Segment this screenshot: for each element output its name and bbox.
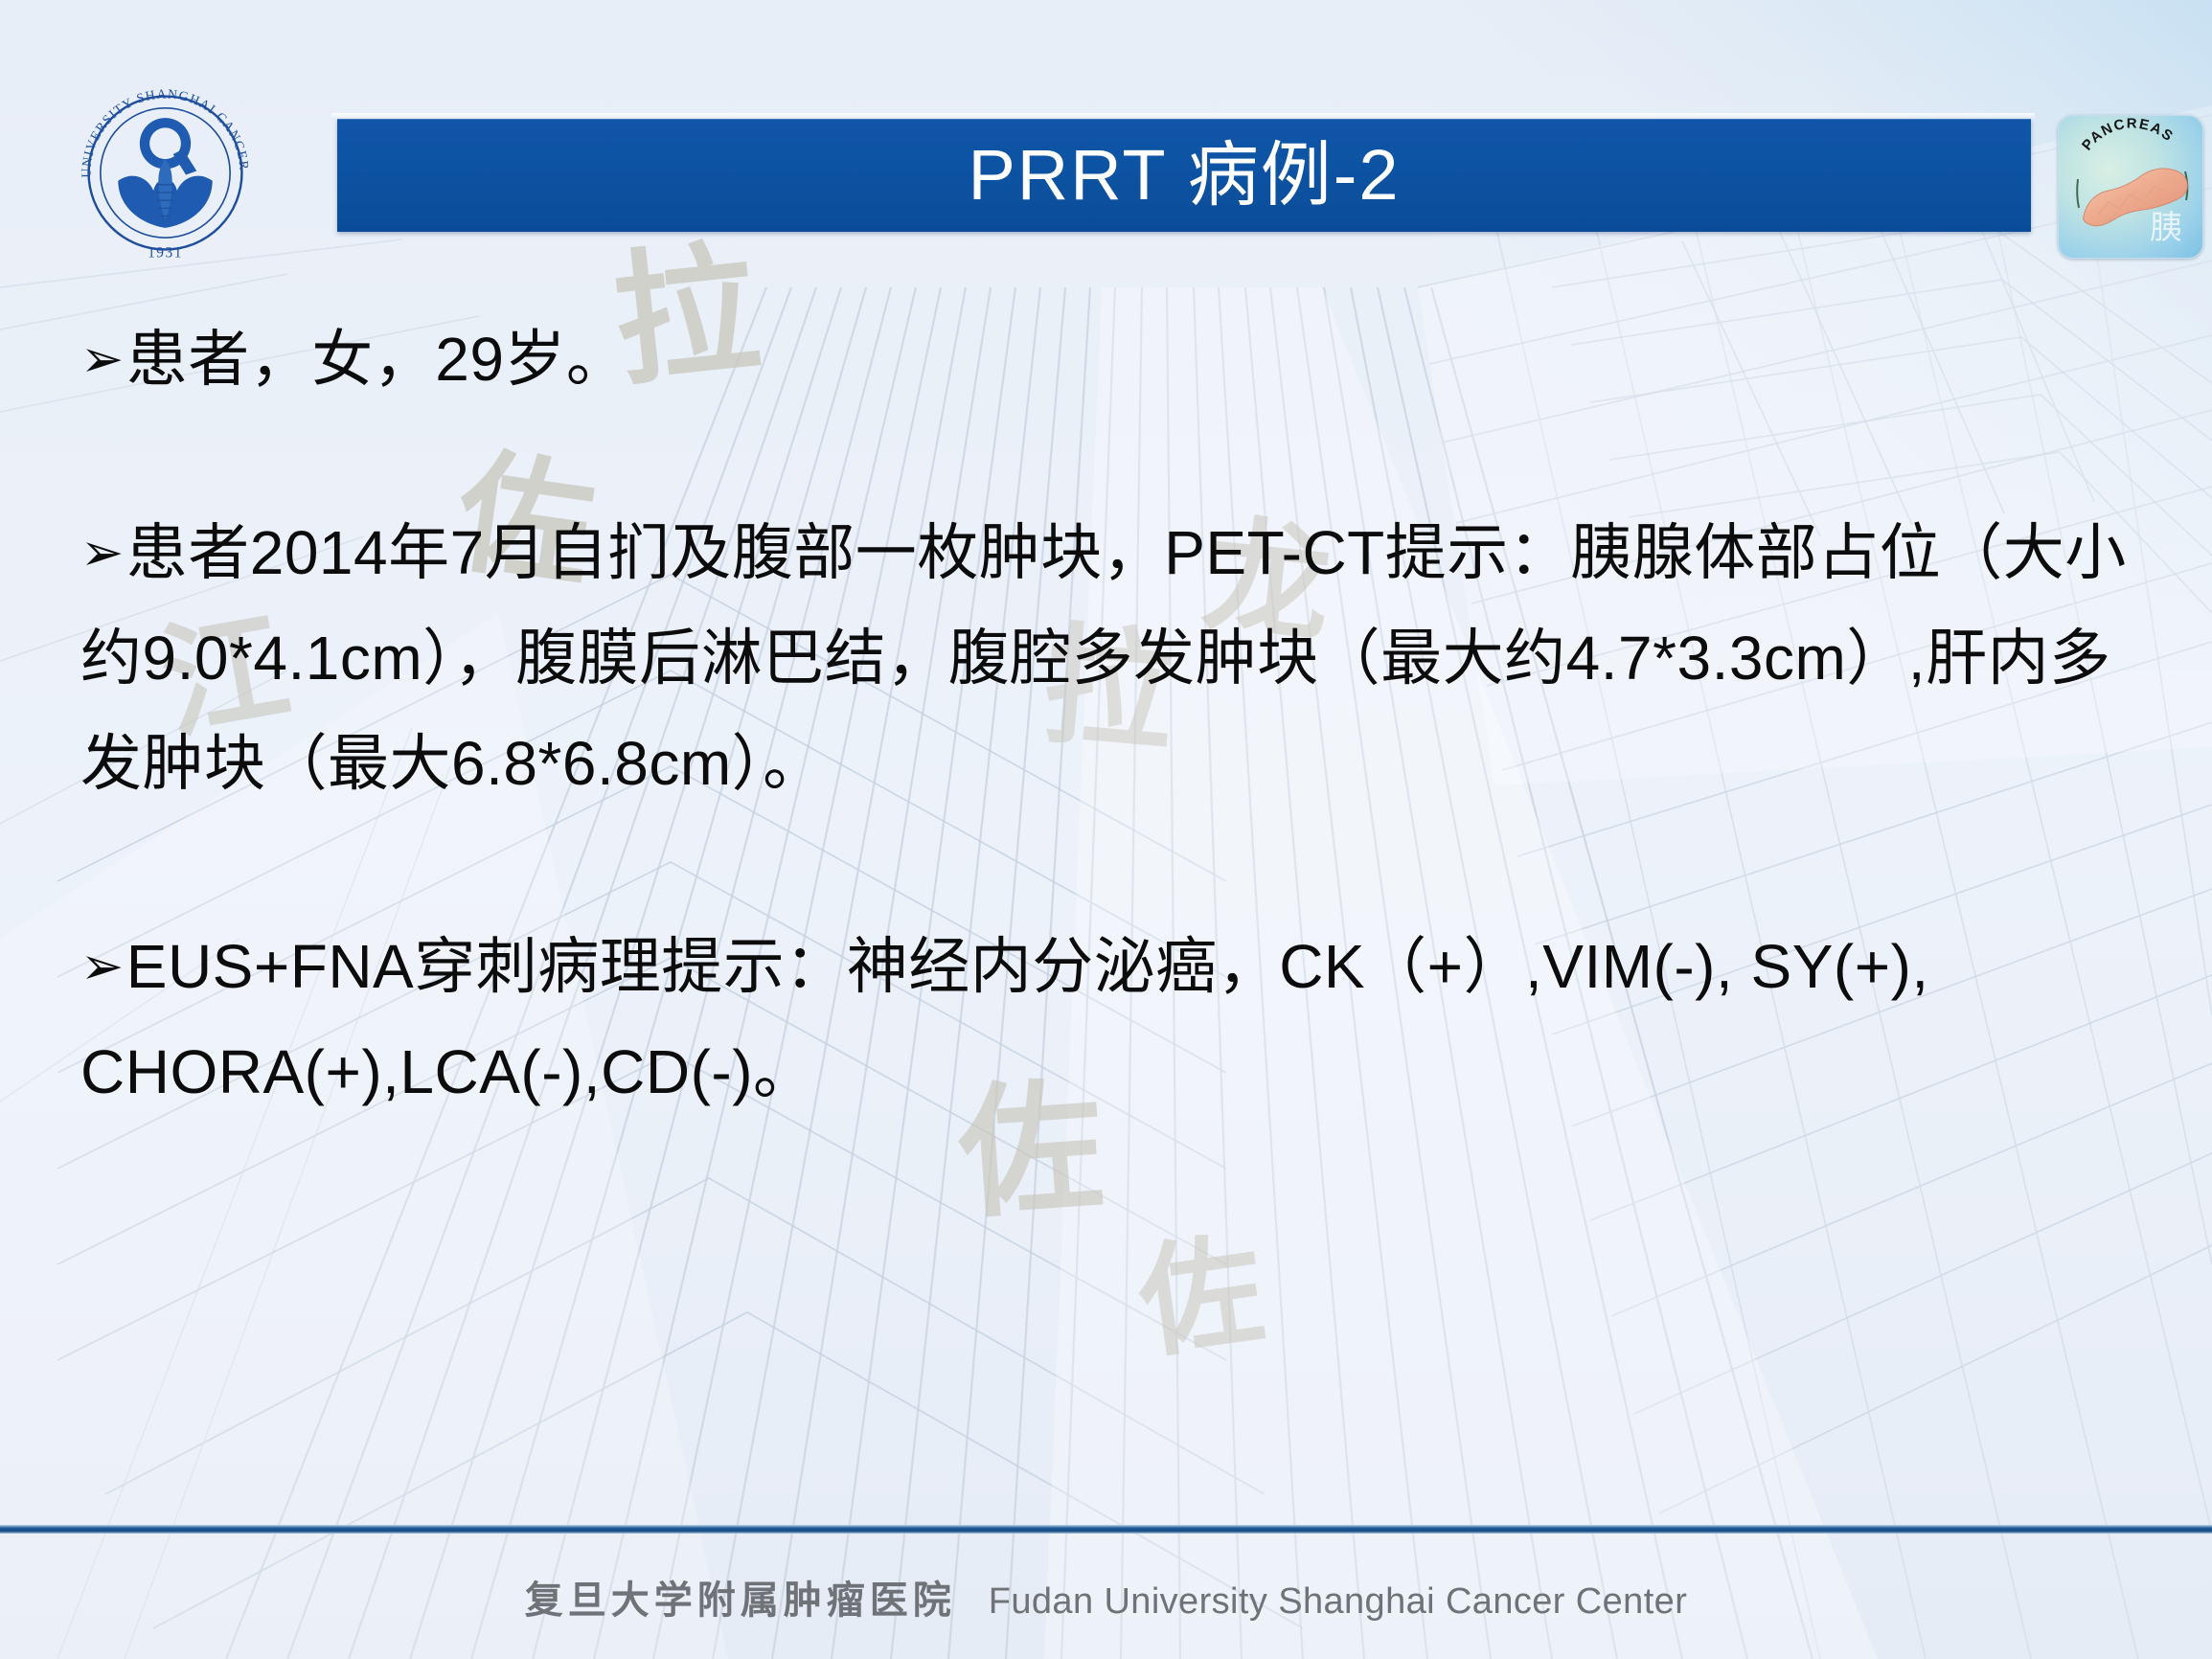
paragraph-1-line-1: ➢患者，女，29岁。 <box>80 307 2150 412</box>
paragraph-spacer-1 <box>80 412 2150 500</box>
fudan-cancer-center-logo: FUDAN UNIVERSITY SHANGHAI CANCER CENTER … <box>67 75 263 271</box>
bullet-marker-icon: ➢ <box>80 333 125 385</box>
paragraph-3-text-1: EUS+FNA穿刺病理提示：神经内分泌癌，CK（+）,VIM(-), SY(+)… <box>126 932 1929 1001</box>
footer: 复旦大学附属肿瘤医院Fudan University Shanghai Canc… <box>0 1569 2212 1625</box>
bullet-paragraph-1: ➢患者，女，29岁。 <box>80 307 2150 412</box>
paragraph-2-text-1: 患者2014年7月自扪及腹部一枚肿块，PET-CT提示：胰腺体部占位（大小 <box>126 518 2127 587</box>
footer-institution-cn: 复旦大学附属肿瘤医院 <box>525 1579 956 1622</box>
bullet-marker-icon: ➢ <box>80 527 125 579</box>
svg-text:1931: 1931 <box>148 245 183 261</box>
watermark-char-7: 佐 <box>1127 1190 1273 1382</box>
slide-title-band: PRRT 病例-2 <box>337 119 2031 232</box>
paragraph-1-text: 患者，女，29岁。 <box>126 325 628 394</box>
page-title: PRRT 病例-2 <box>337 140 2031 211</box>
bullet-paragraph-3: ➢EUS+FNA穿刺病理提示：神经内分泌癌，CK（+）,VIM(-), SY(+… <box>80 914 2150 1125</box>
bullet-paragraph-2: ➢患者2014年7月自扪及腹部一枚肿块，PET-CT提示：胰腺体部占位（大小 约… <box>80 500 2150 816</box>
svg-text:胰: 胰 <box>2150 209 2182 247</box>
svg-text:PANCREAS: PANCREAS <box>2079 116 2177 153</box>
footer-institution-en: Fudan University Shanghai Cancer Center <box>989 1581 1688 1622</box>
pancreas-badge-logo: PANCREAS 胰 <box>2058 115 2203 259</box>
paragraph-2-line-1: ➢患者2014年7月自扪及腹部一枚肿块，PET-CT提示：胰腺体部占位（大小 <box>80 500 2150 605</box>
slide-body: ➢患者，女，29岁。 ➢患者2014年7月自扪及腹部一枚肿块，PET-CT提示：… <box>80 307 2150 1125</box>
footer-divider <box>0 1525 2212 1534</box>
paragraph-2-line-3: 发肿块（最大6.8*6.8cm）。 <box>80 711 2150 816</box>
paragraph-3-line-2: CHORA(+),LCA(-),CD(-)。 <box>80 1019 2150 1125</box>
paragraph-spacer-2 <box>80 816 2150 914</box>
slide-canvas: 拉 佐 江 龙 佐 拉 佐 FUDAN UNIVERSITY SHANGHAI … <box>0 0 2212 1659</box>
bullet-marker-icon: ➢ <box>80 941 125 992</box>
paragraph-2-line-2: 约9.0*4.1cm），腹膜后淋巴结，腹腔多发肿块（最大约4.7*3.3cm）,… <box>80 605 2150 711</box>
paragraph-3-line-1: ➢EUS+FNA穿刺病理提示：神经内分泌癌，CK（+）,VIM(-), SY(+… <box>80 914 2150 1019</box>
